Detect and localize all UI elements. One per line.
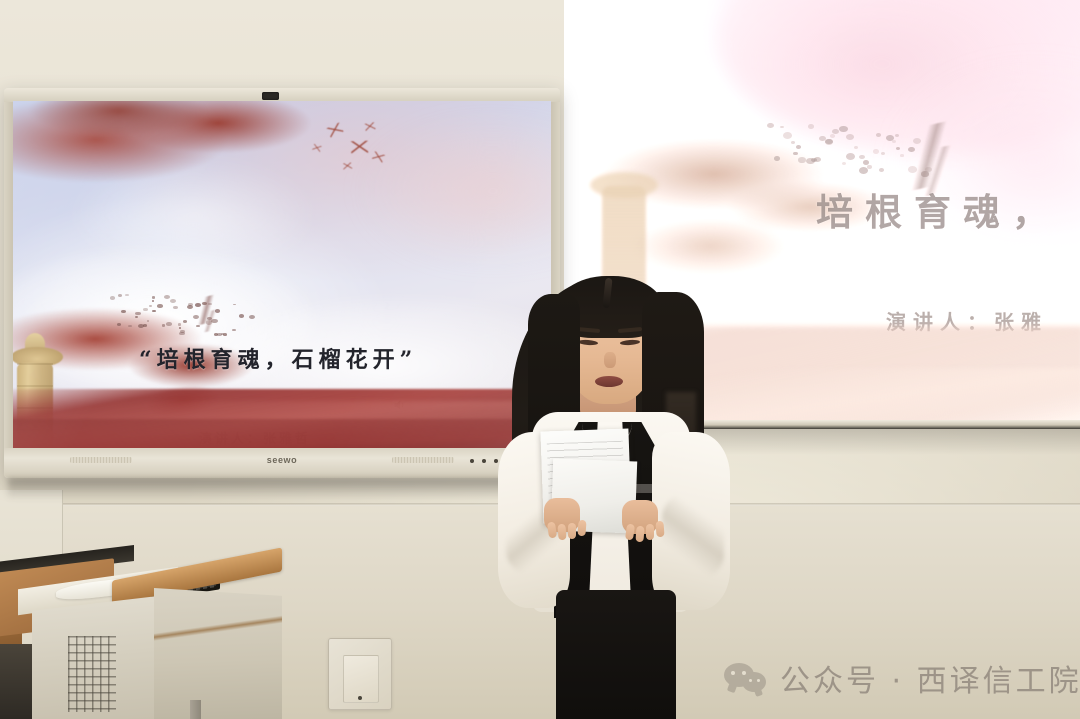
speaker-grille-icon xyxy=(392,457,454,463)
projection-flock-speck xyxy=(825,139,832,145)
slide-flock-speck xyxy=(138,324,144,328)
finger xyxy=(655,521,664,538)
speaker-person xyxy=(470,272,770,719)
slide-flock-speck xyxy=(118,294,122,297)
projection-flock-speck xyxy=(814,157,821,162)
projection-flock-speck xyxy=(854,146,858,149)
display-top-bezel xyxy=(4,88,560,102)
slide-flock-speck xyxy=(162,324,165,326)
finger xyxy=(646,524,654,540)
finger xyxy=(568,523,576,539)
projection-flock-speck xyxy=(783,132,792,139)
projection-slide-title: 培根育魂， 石 xyxy=(816,182,1080,236)
slide-flock-speck xyxy=(117,323,121,326)
watermark: 公众号 · 西译信工院 xyxy=(724,656,1080,700)
watermark-text: 公众号 · 西译信工院 xyxy=(780,656,1080,700)
projection-flock-speck xyxy=(808,124,814,129)
slide-flock-speck xyxy=(121,310,126,313)
slide-flock-speck xyxy=(170,299,176,303)
projection-flock-speck xyxy=(830,134,835,138)
screenshot-root: 培根育魂， 石 演讲人：张雅 xyxy=(0,0,1080,719)
finger xyxy=(557,524,566,541)
projection-flock-speck xyxy=(780,126,783,128)
lectern-podium[interactable] xyxy=(0,552,294,719)
slide-flock-speck xyxy=(249,315,255,319)
slide-flock-speck xyxy=(217,333,222,336)
projection-flock-speck xyxy=(846,134,854,140)
wall-socket-plate[interactable] xyxy=(328,638,392,710)
camera-icon xyxy=(262,92,279,100)
projection-flock-speck xyxy=(796,145,801,149)
slide-flock-speck xyxy=(157,304,162,308)
slide-flock-speck xyxy=(110,296,115,299)
projection-flock-speck xyxy=(793,152,797,155)
wall-socket-screw xyxy=(358,696,362,700)
podium-leg xyxy=(190,700,201,719)
slide-flock-speck xyxy=(143,308,147,311)
slide-flock-speck xyxy=(147,320,149,322)
projection-flock-speck xyxy=(798,157,805,163)
sleeve-fold-right xyxy=(662,494,724,578)
slide-flock-speck xyxy=(135,316,138,318)
podium-side-trim xyxy=(154,600,282,658)
projection-flock-speck xyxy=(819,136,825,141)
projection-flock-speck xyxy=(767,123,774,128)
slide-flock-speck xyxy=(164,295,170,299)
speaker-grille-icon xyxy=(68,636,116,712)
slide-dove xyxy=(343,163,353,170)
finger xyxy=(635,526,644,543)
slide-flock-speck xyxy=(223,333,227,336)
wechat-icon xyxy=(724,663,768,693)
slide-flock-speck xyxy=(152,296,155,298)
slide-flock-speck xyxy=(128,325,132,328)
projection-flock-speck xyxy=(846,153,855,160)
slide-top-red-banner xyxy=(13,101,233,151)
projection-flock-speck xyxy=(839,126,847,132)
nose xyxy=(604,352,616,368)
black-trousers xyxy=(556,590,676,719)
projection-flock-speck xyxy=(791,141,795,144)
slide-title: “培根育魂，石榴花开” xyxy=(139,342,417,374)
slide-flock-speck xyxy=(166,322,171,326)
slide-dove xyxy=(351,141,368,154)
podium-shadow-gap xyxy=(0,644,32,719)
finger xyxy=(577,520,586,537)
projection-flock-speck xyxy=(774,156,780,161)
mouth xyxy=(595,376,623,387)
projection-flock-speck xyxy=(842,162,846,165)
